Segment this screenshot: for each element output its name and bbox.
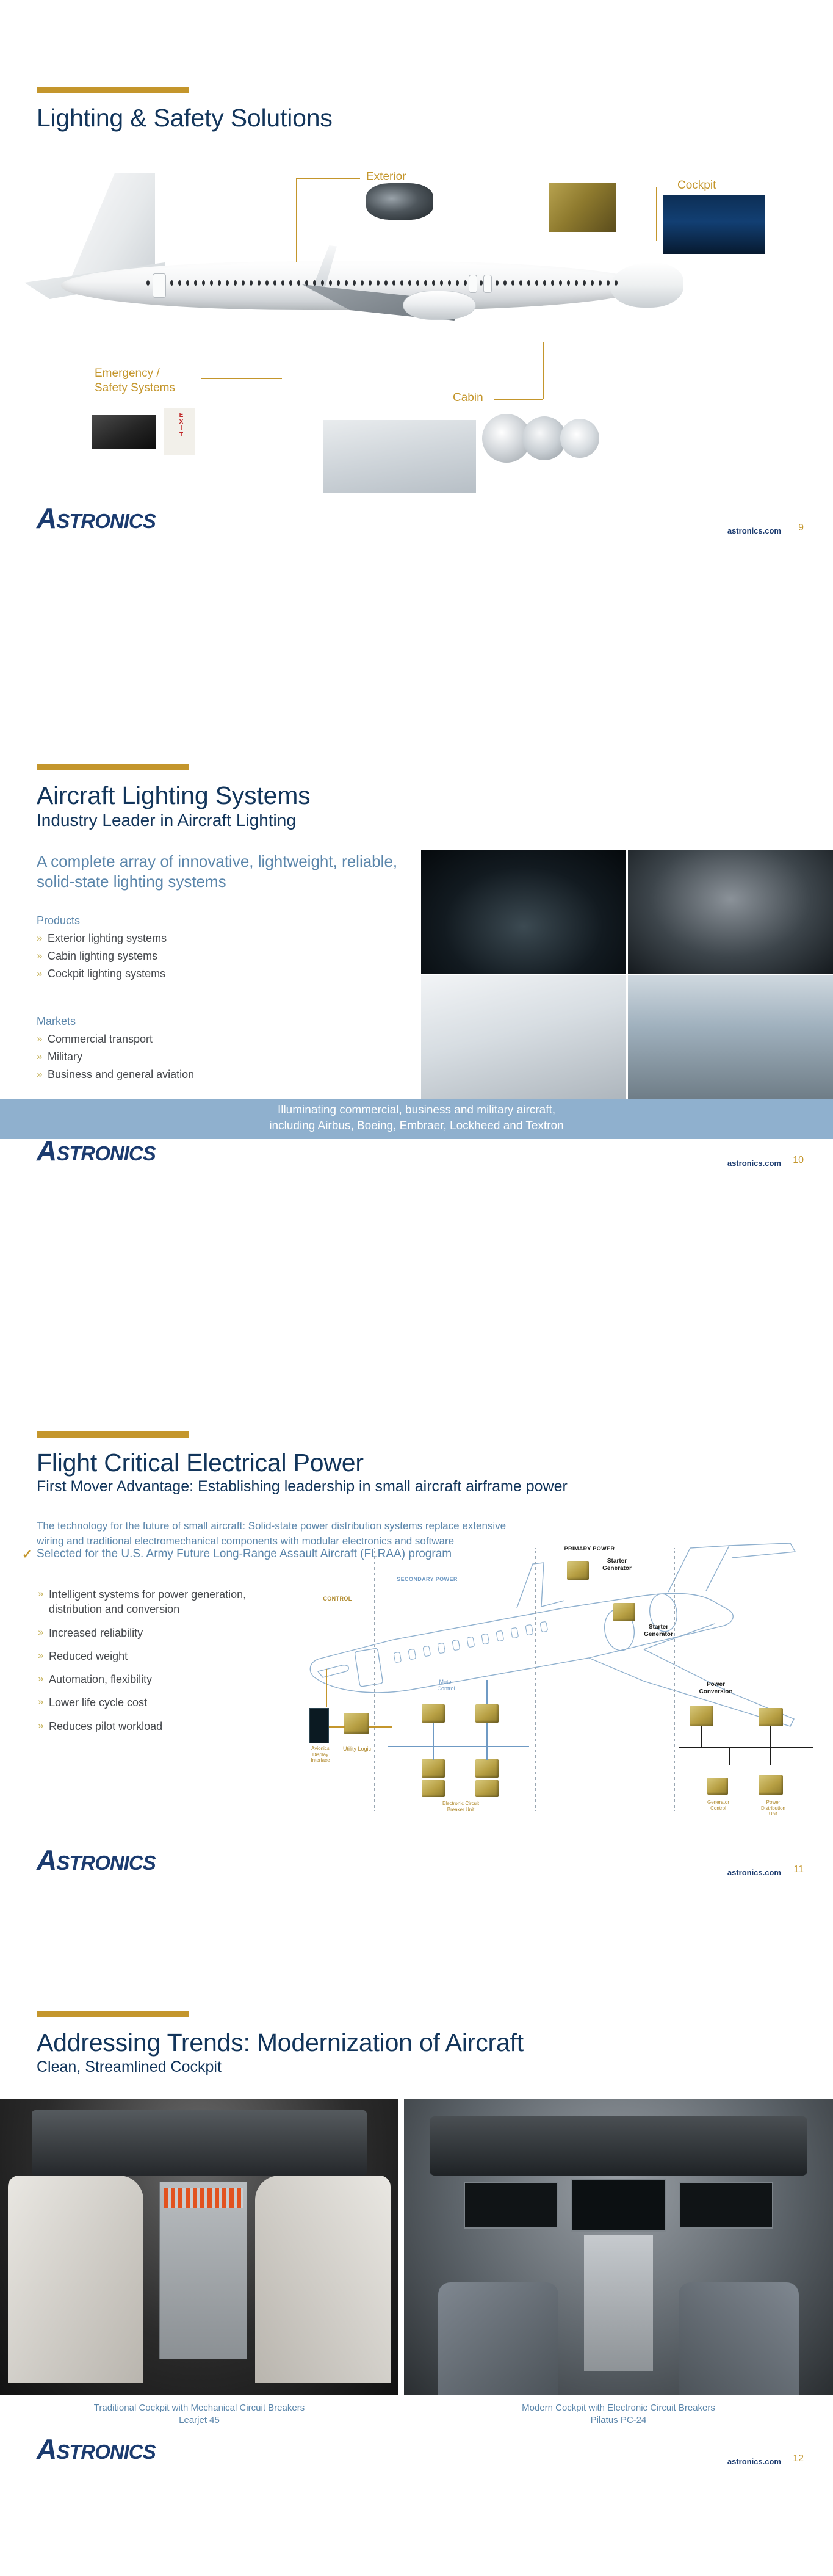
component-ecbu-b: [475, 1780, 499, 1797]
drop-line-conversion-c: [729, 1747, 730, 1765]
logo-wordmark: STRONICS: [56, 1142, 156, 1165]
photo-cockpit-display[interactable]: [662, 194, 766, 255]
leader-cockpit-vertical: [656, 187, 657, 241]
footer-website[interactable]: astronics.com: [727, 2457, 781, 2466]
cockpit-a-seat-left: [8, 2176, 143, 2383]
callout-label-cabin: Cabin: [453, 391, 483, 405]
leader-cockpit-horizontal: [656, 187, 676, 187]
photo-military-jet-night: [421, 850, 626, 974]
logo-wordmark: STRONICS: [56, 510, 156, 532]
footer-page-number: 11: [793, 1864, 804, 1875]
title-accent-rule: [37, 1431, 189, 1438]
page-title: Lighting & Safety Solutions: [37, 104, 333, 132]
drop-line-motor-b2: [486, 1746, 488, 1760]
photo-modern-cockpit-pilatus-pc24: [404, 2099, 833, 2395]
photo-cabin-interior: [323, 420, 476, 493]
list-item-label: Cabin lighting systems: [48, 950, 157, 962]
page-subtitle: Industry Leader in Aircraft Lighting: [37, 811, 296, 830]
component-utility-logic: [344, 1713, 369, 1734]
photo-business-jet-runway: [628, 975, 833, 1099]
photo-cockpit-panel-components: [549, 183, 616, 232]
zone-separator-mid: [535, 1548, 536, 1811]
footer-website[interactable]: astronics.com: [727, 1159, 781, 1168]
bus-line-motor-control: [388, 1746, 529, 1747]
chevron-bullet-icon: »: [38, 1672, 43, 1686]
drop-line-conversion-b: [770, 1726, 771, 1747]
chevron-bullet-icon: »: [37, 1031, 42, 1047]
diagram-label-avionics-display-interface: Avionics Display Interface: [303, 1746, 337, 1764]
chevron-bullet-icon: »: [37, 930, 42, 946]
component-power-conversion-b: [759, 1708, 783, 1726]
component-starter-generator-upper: [567, 1561, 589, 1580]
list-item-label: Exterior lighting systems: [48, 932, 167, 944]
diagram-label-power-distribution-unit: Power Distribution Unit: [748, 1800, 799, 1817]
callout-label-exterior: Exterior: [366, 170, 406, 184]
callout-label-cockpit: Cockpit: [677, 178, 716, 193]
logo-wordmark: STRONICS: [56, 1851, 156, 1874]
chevron-bullet-icon: »: [37, 948, 42, 964]
diagram-label-generator-control: Generator Control: [693, 1800, 744, 1811]
list-item-label: Commercial transport: [48, 1033, 153, 1045]
chevron-bullet-icon: »: [37, 966, 42, 982]
footer-website[interactable]: astronics.com: [727, 526, 781, 535]
leader-cabin-vertical: [543, 342, 544, 399]
page-subtitle: First Mover Advantage: Establishing lead…: [37, 1478, 568, 1496]
aircraft-door-aft: [483, 275, 492, 293]
astronics-logo: ASTRONICS: [37, 1843, 156, 1876]
check-icon: ✓: [22, 1547, 32, 1562]
drop-line-conversion-a: [701, 1726, 702, 1747]
lead-paragraph: A complete array of innovative, lightwei…: [37, 852, 464, 892]
callout-label-emergency-safety: Emergency / Safety Systems: [95, 366, 175, 396]
aircraft-nose: [610, 262, 683, 308]
zone-separator-right: [674, 1548, 675, 1811]
aircraft-tail-fin: [71, 173, 155, 278]
component-generator-control: [707, 1778, 728, 1795]
title-accent-rule: [37, 764, 189, 770]
drop-line-motor-a2: [433, 1746, 434, 1760]
list-item-label: Increased reliability: [49, 1627, 143, 1639]
leader-emergency-horizontal: [201, 378, 282, 379]
bullet-list-products: »Exterior lighting systems »Cabin lighti…: [37, 930, 293, 982]
list-item: »Commercial transport: [37, 1031, 293, 1047]
cockpit-b-display-left: [464, 2182, 558, 2229]
cabin-window-row: [146, 280, 618, 286]
list-item-label: Automation, flexibility: [49, 1673, 152, 1685]
list-item-label: Cockpit lighting systems: [48, 968, 165, 980]
group-label-products: Products: [37, 914, 293, 927]
cockpit-b-glareshield: [430, 2116, 807, 2176]
list-item-label: Reduces pilot workload: [49, 1720, 162, 1732]
cockpit-b-display-center: [571, 2179, 666, 2232]
footer-page-number: 12: [793, 2453, 804, 2464]
power-architecture-diagram: PRIMARY POWER SECONDARY POWER CONTROL St…: [302, 1532, 827, 1843]
logo-initial: A: [37, 1844, 56, 1876]
chevron-bullet-icon: »: [38, 1719, 43, 1733]
link-utility-bus: [369, 1726, 392, 1728]
group-label-markets: Markets: [37, 1015, 293, 1028]
list-item: »Automation, flexibility: [38, 1672, 294, 1687]
astronics-logo: ASTRONICS: [37, 2433, 156, 2466]
diagram-label-starter-generator-upper: Starter Generator: [589, 1558, 645, 1572]
drop-line-conversion-d: [770, 1747, 771, 1765]
logo-wordmark: STRONICS: [56, 2440, 156, 2463]
cockpit-b-seat-left: [438, 2282, 558, 2395]
diagram-label-secondary-power: SECONDARY POWER: [381, 1576, 473, 1583]
footer-page-number: 10: [793, 1155, 804, 1166]
aircraft-door-forward: [153, 273, 166, 298]
photo-exterior-light: [366, 183, 433, 220]
photo-cabin-reading-light-c: [560, 419, 599, 458]
component-motor-control-a-bottom: [422, 1759, 445, 1778]
list-item: »Cockpit lighting systems: [37, 966, 293, 982]
title-accent-rule: [37, 87, 189, 93]
cockpit-a-seat-right: [255, 2176, 391, 2383]
aircraft-engine: [403, 291, 476, 320]
link-avionics-utility: [329, 1726, 345, 1728]
diagram-label-control: CONTROL: [307, 1596, 368, 1602]
business-jet-outline: [302, 1532, 827, 1734]
aircraft-door-mid: [469, 275, 477, 293]
footer-website[interactable]: astronics.com: [727, 1868, 781, 1877]
bullet-list-markets: »Commercial transport »Military »Busines…: [37, 1031, 293, 1083]
diagram-label-utility-logic: Utility Logic: [337, 1746, 377, 1753]
list-item: »Reduces pilot workload: [38, 1719, 294, 1734]
mosaic-caption-bar: Illuminating commercial, business and mi…: [0, 1099, 833, 1139]
leader-cabin-horizontal: [494, 399, 543, 400]
list-item: »Increased reliability: [38, 1626, 294, 1640]
cockpit-b-seat-right: [679, 2282, 799, 2395]
drop-line-motor-a: [433, 1723, 434, 1746]
component-motor-control-a-top: [422, 1704, 445, 1723]
zone-separator-left: [374, 1548, 375, 1811]
astronics-logo: ASTRONICS: [37, 1134, 156, 1167]
list-item: »Intelligent systems for power generatio…: [38, 1587, 294, 1617]
exit-sign-glyph: EXIT: [176, 413, 187, 450]
chevron-bullet-icon: »: [37, 1049, 42, 1065]
chevron-bullet-icon: »: [38, 1587, 43, 1601]
component-ecbu-a: [422, 1780, 445, 1797]
slide-lighting-safety-solutions: Lighting & Safety Solutions Exterior Coc…: [0, 0, 833, 549]
diagram-label-motor-control: Motor Control: [422, 1679, 471, 1692]
caption-modern-cockpit: Modern Cockpit with Electronic Circuit B…: [404, 2402, 833, 2427]
list-item: »Reduced weight: [38, 1649, 294, 1663]
diagram-label-primary-power: PRIMARY POWER: [544, 1546, 635, 1552]
page-title: Addressing Trends: Modernization of Airc…: [37, 2028, 524, 2057]
list-item-label: Intelligent systems for power generation…: [49, 1588, 246, 1615]
bus-line-power-conversion: [679, 1747, 813, 1748]
caption-traditional-cockpit: Traditional Cockpit with Mechanical Circ…: [0, 2402, 398, 2427]
page-title: Aircraft Lighting Systems: [37, 781, 310, 810]
cockpit-a-glareshield: [32, 2110, 367, 2176]
leader-exterior-horizontal: [296, 178, 360, 179]
riser-line-motor-control: [486, 1680, 488, 1704]
title-accent-rule: [37, 2011, 189, 2017]
photo-cabin-ceiling-lighting: [421, 975, 626, 1099]
group-products: Products »Exterior lighting systems »Cab…: [37, 914, 293, 983]
list-item-label: Lower life cycle cost: [49, 1696, 147, 1709]
diagram-label-power-conversion: Power Conversion: [685, 1681, 746, 1696]
diagram-label-starter-generator-lower: Starter Generator: [630, 1624, 687, 1638]
page-title: Flight Critical Electrical Power: [37, 1449, 364, 1477]
diagram-label-electronic-circuit-breaker-unit: Electronic Circuit Breaker Unit: [422, 1801, 500, 1812]
chevron-bullet-icon: »: [38, 1626, 43, 1640]
component-power-conversion-a: [690, 1706, 713, 1726]
list-item: »Exterior lighting systems: [37, 930, 293, 947]
leader-exterior-vertical: [296, 178, 297, 262]
logo-initial: A: [37, 2433, 56, 2465]
cockpit-b-display-right: [679, 2182, 773, 2229]
list-item-label: Military: [48, 1051, 82, 1063]
component-motor-control-b-bottom: [475, 1759, 499, 1778]
list-item-label: Business and general aviation: [48, 1068, 194, 1080]
logo-initial: A: [37, 1135, 56, 1167]
list-item-label: Reduced weight: [49, 1650, 128, 1662]
cockpit-b-pedestal: [584, 2235, 652, 2371]
photo-mosaic: [421, 850, 833, 1099]
cockpit-a-breaker-panel: [159, 2182, 247, 2359]
photo-cockpit-interior: [628, 850, 833, 974]
photo-emergency-power-supply: [92, 415, 156, 449]
component-starter-generator-lower: [613, 1603, 635, 1621]
list-item: »Business and general aviation: [37, 1066, 293, 1083]
page-subtitle: Clean, Streamlined Cockpit: [37, 2058, 222, 2076]
riser-line-control: [326, 1669, 327, 1707]
component-avionics-display: [309, 1708, 329, 1743]
photo-traditional-cockpit-learjet-45: [0, 2099, 398, 2395]
list-item: »Lower life cycle cost: [38, 1695, 294, 1710]
cockpit-a-breaker-row: [164, 2188, 243, 2209]
slide-flight-critical-electrical-power: Flight Critical Electrical Power First M…: [0, 1306, 833, 1917]
footer-page-number: 9: [798, 523, 804, 534]
drop-line-motor-b: [486, 1723, 488, 1746]
chevron-bullet-icon: »: [38, 1695, 43, 1709]
group-markets: Markets »Commercial transport »Military …: [37, 1015, 293, 1084]
component-motor-control-b-top: [475, 1704, 499, 1723]
chevron-bullet-icon: »: [37, 1066, 42, 1082]
leader-emergency-vertical: [281, 287, 281, 378]
benefits-list: »Intelligent systems for power generatio…: [38, 1587, 294, 1742]
logo-initial: A: [37, 502, 56, 534]
slide-addressing-trends-modernization: Addressing Trends: Modernization of Airc…: [0, 1917, 833, 2576]
list-item: »Military: [37, 1049, 293, 1065]
list-item: »Cabin lighting systems: [37, 948, 293, 964]
slide-aircraft-lighting-systems: Aircraft Lighting Systems Industry Leade…: [0, 671, 833, 1282]
component-power-distribution-unit: [759, 1775, 783, 1795]
chevron-bullet-icon: »: [38, 1649, 43, 1663]
astronics-logo: ASTRONICS: [37, 502, 156, 535]
